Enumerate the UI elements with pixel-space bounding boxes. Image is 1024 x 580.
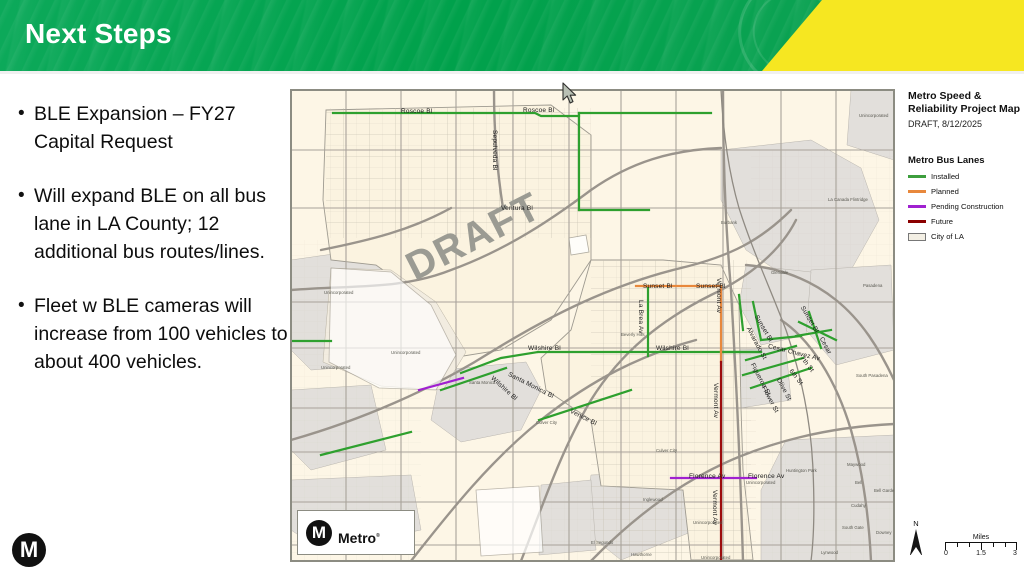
list-item: • BLE Expansion – FY27 Capital Request: [18, 100, 288, 156]
city-label: Cudahy: [851, 503, 866, 508]
metro-logo-letter: M: [12, 533, 46, 567]
street-label: Sepulveda Bl: [491, 130, 498, 171]
legend-item-planned: Planned: [908, 187, 1024, 196]
legend-swatch-future: [908, 220, 926, 223]
bullet-list: • BLE Expansion – FY27 Capital Request •…: [18, 100, 288, 402]
map-metro-logo: M Metro: [297, 510, 415, 555]
city-label: Downey: [876, 530, 892, 535]
legend-label-planned: Planned: [931, 187, 959, 196]
street-label: Vermont Av: [712, 383, 719, 418]
map-metro-logo-text: Metro: [338, 530, 380, 546]
legend-label-future: Future: [931, 217, 953, 226]
bullet-marker: •: [18, 292, 34, 376]
scale-tick-0: 0: [944, 550, 948, 557]
legend-swatch-planned: [908, 190, 926, 193]
city-label: El Segundo: [591, 540, 613, 545]
legend-swatch-installed: [908, 175, 926, 178]
map-graphic: [291, 90, 894, 561]
street-label: Sunset Bl: [643, 283, 673, 290]
city-label: Beverly Hills: [621, 332, 645, 337]
map-metro-logo-letter: M: [306, 520, 332, 546]
street-label: Florence Av: [748, 473, 784, 480]
metro-logo: M: [12, 533, 46, 567]
list-item: • Fleet w BLE cameras will increase from…: [18, 292, 288, 376]
scale-tick-labels: 0 1.5 3: [945, 550, 1017, 559]
scale-tick-1: 1.5: [976, 550, 986, 557]
north-arrow-icon: [910, 529, 922, 555]
city-label: La Canada Flintridge: [828, 197, 868, 202]
city-label: Inglewood: [643, 497, 663, 502]
city-label: Unincorporated: [693, 520, 722, 525]
city-label: Bell Gardens: [874, 488, 895, 493]
bullet-text: BLE Expansion – FY27 Capital Request: [34, 100, 288, 156]
city-label: Santa Monica: [469, 380, 495, 385]
legend-swatch-city-of-la: [908, 233, 926, 241]
legend-label-installed: Installed: [931, 172, 959, 181]
city-label: Unincorporated: [391, 350, 420, 355]
bullet-marker: •: [18, 182, 34, 266]
map-panel[interactable]: DRAFT Roscoe BlRoscoe BlSepulveda BlVent…: [290, 89, 895, 562]
legend-item-city-of-la: City of LA: [908, 232, 1024, 241]
legend-item-pending-construction: Pending Construction: [908, 202, 1024, 211]
city-label: Unincorporated: [321, 365, 350, 370]
city-label: Maywood: [847, 462, 865, 467]
map-canvas[interactable]: [291, 90, 894, 561]
street-label: Roscoe Bl: [401, 108, 432, 115]
city-label: South Gate: [842, 525, 864, 530]
city-label: Huntington Park: [786, 468, 817, 473]
city-label: Bell: [855, 480, 862, 485]
street-label: Ventura Bl: [501, 205, 533, 212]
legend-label-city-of-la: City of LA: [931, 232, 964, 241]
street-label: Wilshire Bl: [528, 345, 561, 352]
street-label: Roscoe Bl: [523, 107, 554, 114]
bullet-text: Will expand BLE on all bus lane in LA Co…: [34, 182, 288, 266]
city-label: Glendale: [771, 270, 788, 275]
city-label: Pasadena: [863, 283, 882, 288]
list-item: • Will expand BLE on all bus lane in LA …: [18, 182, 288, 266]
city-label: Unincorporated: [701, 555, 730, 560]
bullet-text: Fleet w BLE cameras will increase from 1…: [34, 292, 288, 376]
city-label: Culver City: [656, 448, 677, 453]
city-label: Culver City: [536, 420, 557, 425]
page-title: Next Steps: [25, 18, 172, 50]
legend-title: Metro Speed & Reliability Project Map: [908, 90, 1024, 116]
legend-label-pending-construction: Pending Construction: [931, 202, 1004, 211]
scale-units-label: Miles: [945, 534, 1017, 541]
city-label: Unincorporated: [859, 113, 888, 118]
header-divider: [0, 71, 1024, 74]
city-label: Unincorporated: [746, 480, 775, 485]
city-label: Lynwood: [821, 550, 838, 555]
north-arrow-letter: N: [903, 519, 929, 528]
street-label: Vermont Av: [715, 278, 722, 313]
legend-item-installed: Installed: [908, 172, 1024, 181]
city-label: Unincorporated: [324, 290, 353, 295]
city-label: Burbank: [721, 220, 737, 225]
legend-swatch-pending-construction: [908, 205, 926, 208]
scale-ticks: [945, 542, 1017, 550]
north-arrow: N: [903, 519, 929, 555]
bullet-marker: •: [18, 100, 34, 156]
street-label: Florence Av: [689, 473, 725, 480]
map-legend: Metro Speed & Reliability Project Map DR…: [908, 90, 1024, 241]
street-label: La Brea Av: [637, 300, 644, 334]
city-label: Hawthorne: [631, 552, 652, 557]
legend-date: DRAFT, 8/12/2025: [908, 119, 1024, 129]
legend-section-title: Metro Bus Lanes: [908, 155, 1024, 166]
city-label: South Pasadena: [856, 373, 888, 378]
scale-bar: Miles 0 1.5 3: [945, 534, 1017, 559]
street-label: Wilshire Bl: [656, 345, 689, 352]
legend-item-future: Future: [908, 217, 1024, 226]
scale-tick-2: 3: [1013, 550, 1017, 557]
